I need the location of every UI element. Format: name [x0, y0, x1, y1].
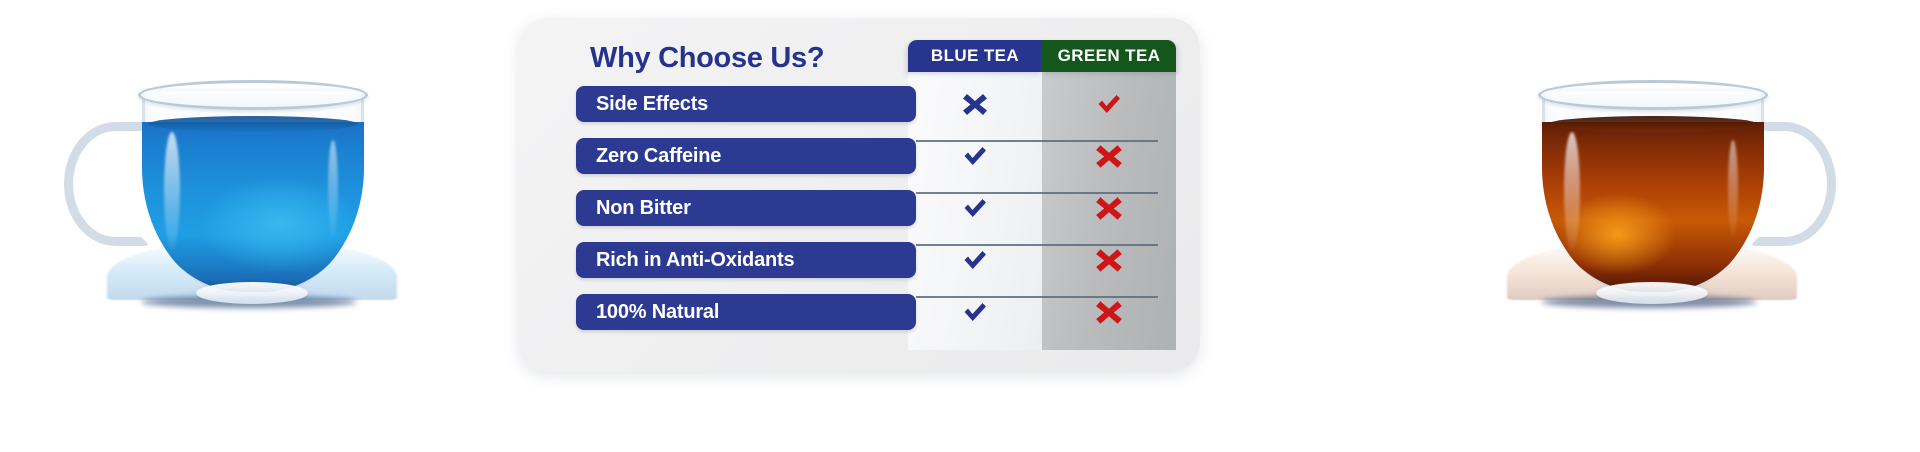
table-row[interactable]: Zero Caffeine [576, 138, 916, 174]
blue-tea-cup [100, 88, 400, 300]
green-tea-cup [1500, 88, 1800, 300]
feature-label: Non Bitter [596, 197, 691, 220]
comparison-card: Why Choose Us? BLUE TEA GREEN TEA Side E… [518, 18, 1200, 372]
cell-green-tea-4 [1042, 294, 1176, 330]
cross-icon [1094, 141, 1124, 171]
cross-icon [961, 90, 989, 118]
check-icon [962, 143, 988, 169]
column-header-blue-tea[interactable]: BLUE TEA [908, 40, 1042, 72]
cell-green-tea-1 [1042, 138, 1176, 174]
table-row[interactable]: Non Bitter [576, 190, 916, 226]
check-icon [962, 247, 988, 273]
green-tea-cup-image [1445, 0, 1875, 452]
liquid-surface [1548, 116, 1758, 132]
cell-green-tea-3 [1042, 242, 1176, 278]
column-header-green-tea[interactable]: GREEN TEA [1042, 40, 1176, 72]
cup-base [1596, 282, 1708, 304]
column-header-label: GREEN TEA [1058, 46, 1161, 66]
cross-icon [1094, 193, 1124, 223]
glass-highlight [1564, 132, 1580, 250]
feature-label: Rich in Anti-Oxidants [596, 249, 794, 272]
cup-rim [1538, 80, 1768, 110]
check-icon [962, 299, 988, 325]
cross-icon [1094, 297, 1124, 327]
cell-blue-tea-3 [908, 242, 1042, 278]
page-title: Why Choose Us? [590, 42, 824, 75]
glass-highlight [1728, 140, 1738, 236]
column-header-label: BLUE TEA [931, 46, 1019, 66]
cell-blue-tea-1 [908, 138, 1042, 174]
cell-green-tea-2 [1042, 190, 1176, 226]
glass-highlight [164, 132, 180, 250]
check-icon [962, 195, 988, 221]
cup-rim [138, 80, 368, 110]
check-icon [1096, 91, 1122, 117]
feature-label: Zero Caffeine [596, 145, 721, 168]
table-row[interactable]: Side Effects [576, 86, 916, 122]
feature-label: 100% Natural [596, 301, 719, 324]
cell-green-tea-0 [1042, 86, 1176, 122]
cell-blue-tea-2 [908, 190, 1042, 226]
cup-handle-icon [64, 122, 150, 246]
blue-tea-cup-image [45, 0, 475, 452]
table-row[interactable]: Rich in Anti-Oxidants [576, 242, 916, 278]
feature-label: Side Effects [596, 93, 708, 116]
cell-blue-tea-0 [908, 86, 1042, 122]
cross-icon [1094, 245, 1124, 275]
glass-highlight [328, 140, 338, 236]
comparison-infographic: Why Choose Us? BLUE TEA GREEN TEA Side E… [0, 0, 1920, 452]
table-row[interactable]: 100% Natural [576, 294, 916, 330]
cell-blue-tea-4 [908, 294, 1042, 330]
liquid-surface [148, 116, 358, 132]
cup-base [196, 282, 308, 304]
